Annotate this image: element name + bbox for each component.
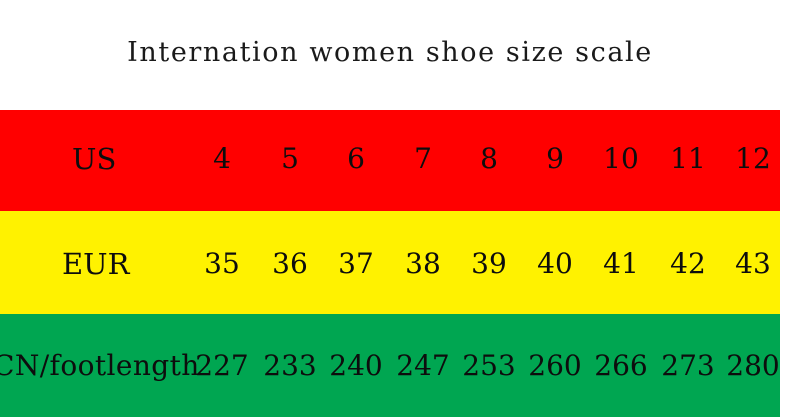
cell-us-5: 8 (459, 142, 519, 176)
cell-us-6: 9 (525, 142, 585, 176)
cell-eur-4: 38 (393, 247, 453, 281)
cell-cn-7: 266 (591, 349, 651, 383)
cell-cn-3: 240 (326, 349, 386, 383)
cell-us-1: 4 (192, 142, 252, 176)
cell-us-2: 5 (260, 142, 320, 176)
cell-eur-7: 41 (591, 247, 651, 281)
size-row-cn: CN/footlength 227 233 240 247 253 260 26… (0, 314, 780, 417)
cell-us-4: 7 (393, 142, 453, 176)
cell-cn-8: 273 (658, 349, 718, 383)
cell-eur-1: 35 (192, 247, 252, 281)
cell-cn-2: 233 (260, 349, 320, 383)
cell-us-3: 6 (326, 142, 386, 176)
page-title: Internation women shoe size scale (0, 36, 780, 70)
row-label-eur: EUR (62, 247, 202, 281)
cell-cn-6: 260 (525, 349, 585, 383)
cell-eur-5: 39 (459, 247, 519, 281)
cell-us-8: 11 (658, 142, 718, 176)
cell-eur-6: 40 (525, 247, 585, 281)
cell-us-9: 12 (723, 142, 780, 176)
cell-cn-5: 253 (459, 349, 519, 383)
size-row-eur: EUR 35 36 37 38 39 40 41 42 43 (0, 211, 780, 314)
cell-eur-8: 42 (658, 247, 718, 281)
size-row-us: US 4 5 6 7 8 9 10 11 12 (0, 110, 780, 211)
title-area: Internation women shoe size scale (0, 0, 786, 110)
row-label-us: US (72, 142, 192, 176)
cell-cn-9: 280 (723, 349, 780, 383)
cell-us-7: 10 (591, 142, 651, 176)
shoe-size-scale-chart: Internation women shoe size scale US 4 5… (0, 0, 786, 417)
cell-eur-9: 43 (723, 247, 780, 281)
cell-eur-3: 37 (326, 247, 386, 281)
cell-eur-2: 36 (260, 247, 320, 281)
right-gutter (780, 0, 786, 417)
cell-cn-1: 227 (192, 349, 252, 383)
cell-cn-4: 247 (393, 349, 453, 383)
